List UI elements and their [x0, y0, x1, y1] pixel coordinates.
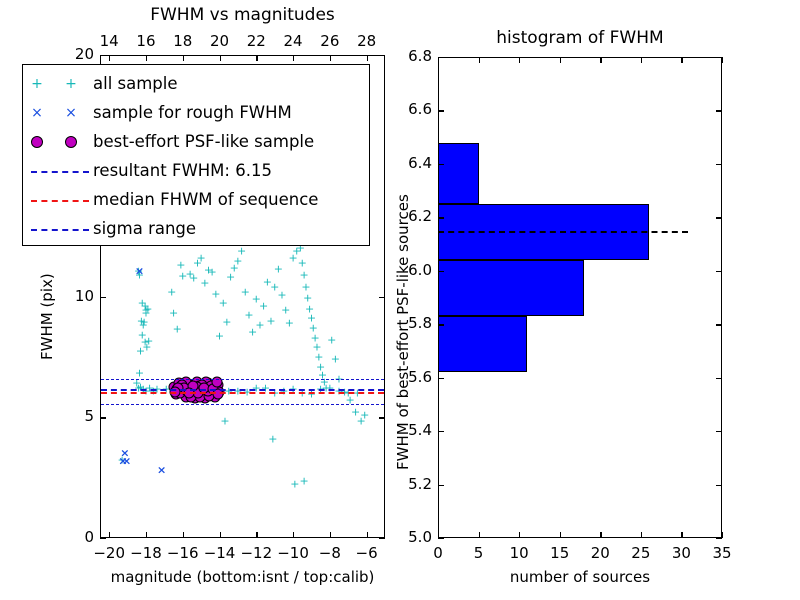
hist-ytick [438, 271, 444, 272]
ytick-label: 5 [52, 407, 94, 425]
hist-ytick-right [716, 378, 722, 379]
hist-xtick-top [560, 57, 561, 63]
xtick [293, 532, 294, 538]
legend-item-label: resultant FWHM: 6.15 [93, 161, 272, 180]
hist-ytick-right [716, 324, 722, 325]
legend-item-4: median FHWM of sequence [23, 185, 369, 214]
top-xtick-label: 24 [273, 32, 313, 50]
hist-xtick-top [519, 57, 520, 63]
left-chart-title: FWHM vs magnitudes [100, 5, 385, 25]
top-xtick-label: 26 [310, 32, 350, 50]
xtick-top [220, 55, 221, 61]
hist-xtick [519, 532, 520, 538]
hist-ytick-right [716, 57, 722, 58]
right-chart-title: histogram of FWHM [438, 28, 722, 48]
legend-line-glyph [31, 171, 89, 173]
legend-marker-dashed-line-icon [29, 190, 93, 210]
xtick-top [293, 55, 294, 61]
ytick [100, 538, 106, 539]
legend-marker-glyph [65, 136, 77, 148]
hist-ytick-right [716, 164, 722, 165]
histogram-bar [438, 143, 479, 204]
hist-ytick-label: 5.2 [386, 475, 432, 493]
legend-item-1: ××sample for rough FWHM [23, 98, 369, 127]
top-xtick-label: 16 [126, 32, 166, 50]
hist-ytick-right [716, 271, 722, 272]
ytick-label: 10 [52, 287, 94, 305]
legend-marker-glyph [31, 136, 43, 148]
ytick-label: 0 [52, 528, 94, 546]
legend-marker-circle-icon [29, 132, 93, 152]
hist-xtick-label: 0 [418, 544, 458, 562]
legend-marker-glyph: + [31, 76, 43, 92]
xtick-top [183, 55, 184, 61]
hist-xtick [600, 532, 601, 538]
hist-xtick-top [479, 57, 480, 63]
histogram-xaxis-label: number of sources [438, 568, 722, 586]
hist-ytick [438, 217, 444, 218]
top-xtick-label: 28 [347, 32, 387, 50]
legend-item-label: sample for rough FWHM [93, 103, 292, 122]
hist-ytick-right [716, 217, 722, 218]
hist-ytick-label: 5.0 [386, 528, 432, 546]
histogram-bar [438, 316, 527, 372]
figure-canvas: FWHM vs magnitudes +++++++++++++++++++++… [0, 0, 800, 600]
legend-item-label: best-effort PSF-like sample [93, 132, 314, 151]
reference-line-sigma-range-lower [101, 404, 384, 405]
hist-ytick-right [716, 538, 722, 539]
hist-xtick [479, 532, 480, 538]
hist-xtick [722, 532, 723, 538]
hist-ytick-label: 6.4 [386, 154, 432, 172]
legend-item-2: best-effort PSF-like sample [23, 127, 369, 156]
hist-ytick-right [716, 485, 722, 486]
ytick-right [379, 297, 385, 298]
hist-xtick-top [681, 57, 682, 63]
top-xtick-label: 20 [200, 32, 240, 50]
ytick [100, 417, 106, 418]
hist-xtick-label: 35 [702, 544, 742, 562]
hist-xtick-top [722, 57, 723, 63]
xtick [146, 532, 147, 538]
hist-ytick [438, 164, 444, 165]
xtick-top [367, 55, 368, 61]
hist-xtick-label: 10 [499, 544, 539, 562]
xtick [183, 532, 184, 538]
legend-item-5: sigma range [23, 214, 369, 243]
hist-ytick [438, 110, 444, 111]
legend-line-glyph [31, 200, 89, 202]
hist-ytick-right [716, 431, 722, 432]
legend-marker-glyph: × [65, 105, 77, 121]
legend-line-glyph [31, 229, 89, 231]
ytick [100, 297, 106, 298]
ytick-right [379, 55, 385, 56]
hist-ytick [438, 485, 444, 486]
legend-item-label: all sample [93, 74, 178, 93]
top-xtick-label: 22 [236, 32, 276, 50]
hist-ytick-label: 6.8 [386, 47, 432, 65]
hist-xtick-label: 30 [661, 544, 701, 562]
xtick [220, 532, 221, 538]
legend-marker-dashed-line-icon [29, 161, 93, 181]
hist-xtick-top [641, 57, 642, 63]
hist-ytick [438, 324, 444, 325]
hist-xtick [681, 532, 682, 538]
hist-xtick-label: 20 [580, 544, 620, 562]
legend-marker-glyph: + [65, 76, 77, 92]
hist-ytick-right [716, 110, 722, 111]
hist-xtick-label: 25 [621, 544, 661, 562]
histogram-bar [438, 260, 584, 316]
scatter-xaxis-label: magnitude (bottom:isnt / top:calib) [100, 568, 385, 586]
ytick-right [379, 417, 385, 418]
legend-item-3: resultant FWHM: 6.15 [23, 156, 369, 185]
xtick-top [330, 55, 331, 61]
hist-xtick [560, 532, 561, 538]
histogram-yaxis-label: FWHM of best-effort PSF-like sources [394, 194, 412, 470]
hist-ytick-label: 6.6 [386, 100, 432, 118]
ytick-right [379, 538, 385, 539]
ytick-label: 20 [52, 45, 94, 63]
legend-item-label: median FHWM of sequence [93, 190, 318, 209]
legend-item-label: sigma range [93, 219, 196, 238]
top-xtick-label: 14 [89, 32, 129, 50]
xtick [330, 532, 331, 538]
xtick [109, 532, 110, 538]
ytick [100, 55, 106, 56]
reference-line-sigma-range-upper [101, 379, 384, 380]
legend: ++all sample××sample for rough FWHMbest-… [22, 64, 370, 246]
xtick-top [256, 55, 257, 61]
xtick-top [109, 55, 110, 61]
hist-ytick [438, 378, 444, 379]
legend-marker-cross-icon: ×× [29, 103, 93, 123]
histogram-median-line [438, 231, 688, 233]
hist-xtick-label: 5 [459, 544, 499, 562]
hist-ytick [438, 538, 444, 539]
xtick [256, 532, 257, 538]
hist-xtick-top [600, 57, 601, 63]
legend-item-0: ++all sample [23, 69, 369, 98]
top-xtick-label: 18 [163, 32, 203, 50]
hist-ytick [438, 57, 444, 58]
legend-marker-dashdot-line-icon [29, 219, 93, 239]
hist-xtick [641, 532, 642, 538]
xtick [367, 532, 368, 538]
xtick-label: −6 [345, 544, 389, 562]
hist-xtick-label: 15 [540, 544, 580, 562]
legend-marker-plus-icon: ++ [29, 74, 93, 94]
reference-line-median-fhwm-of-sequence [101, 392, 384, 394]
scatter-yaxis-label: FWHM (pix) [38, 273, 56, 360]
legend-marker-glyph: × [31, 105, 43, 121]
hist-ytick [438, 431, 444, 432]
xtick-top [146, 55, 147, 61]
